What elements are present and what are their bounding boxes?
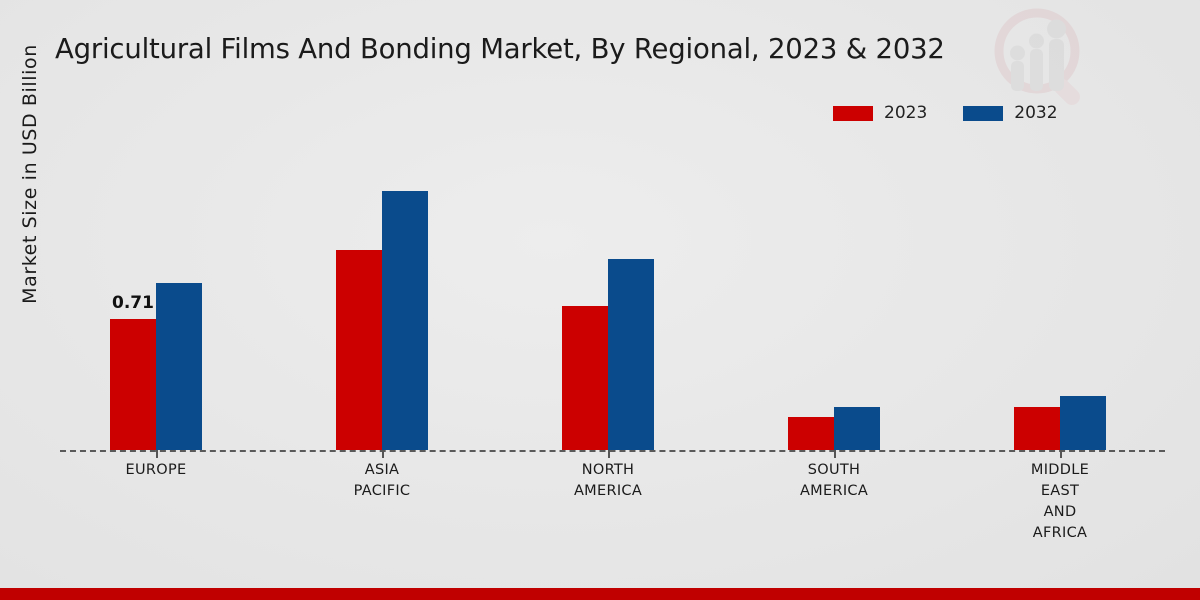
bar-group xyxy=(788,150,880,450)
bar-2023[interactable] xyxy=(562,306,608,450)
x-axis-baseline xyxy=(60,450,1165,452)
x-axis-tick xyxy=(834,450,836,458)
category-label-south-america: SOUTHAMERICA xyxy=(739,460,929,502)
category-label-asia-pacific: ASIAPACIFIC xyxy=(287,460,477,502)
bar-2032[interactable] xyxy=(156,283,202,450)
bar-2023[interactable] xyxy=(336,250,382,450)
x-axis-tick xyxy=(608,450,610,458)
bar-value-label: 0.71 xyxy=(112,293,154,313)
bar-2032[interactable] xyxy=(608,259,654,450)
bar-2023[interactable] xyxy=(788,417,834,450)
bar-2032[interactable] xyxy=(1060,396,1106,450)
category-label-europe: EUROPE xyxy=(61,460,251,481)
bar-group xyxy=(336,150,428,450)
category-label-middle-east-and-africa: MIDDLEEASTANDAFRICA xyxy=(965,460,1155,544)
bar-group xyxy=(1014,150,1106,450)
category-label-north-america: NORTHAMERICA xyxy=(513,460,703,502)
chart-container: Agricultural Films And Bonding Market, B… xyxy=(0,0,1200,600)
bar-2032[interactable] xyxy=(834,407,880,450)
x-axis-tick xyxy=(156,450,158,458)
bar-2023[interactable] xyxy=(1014,407,1060,450)
bar-group: 0.71 xyxy=(110,150,202,450)
x-axis-tick xyxy=(1060,450,1062,458)
bar-group xyxy=(562,150,654,450)
footer-accent-bar xyxy=(0,588,1200,600)
plot-area: 0.71 EUROPEASIAPACIFICNORTHAMERICASOUTHA… xyxy=(0,0,1200,600)
bar-2032[interactable] xyxy=(382,191,428,450)
bar-2023[interactable]: 0.71 xyxy=(110,319,156,450)
x-axis-tick xyxy=(382,450,384,458)
